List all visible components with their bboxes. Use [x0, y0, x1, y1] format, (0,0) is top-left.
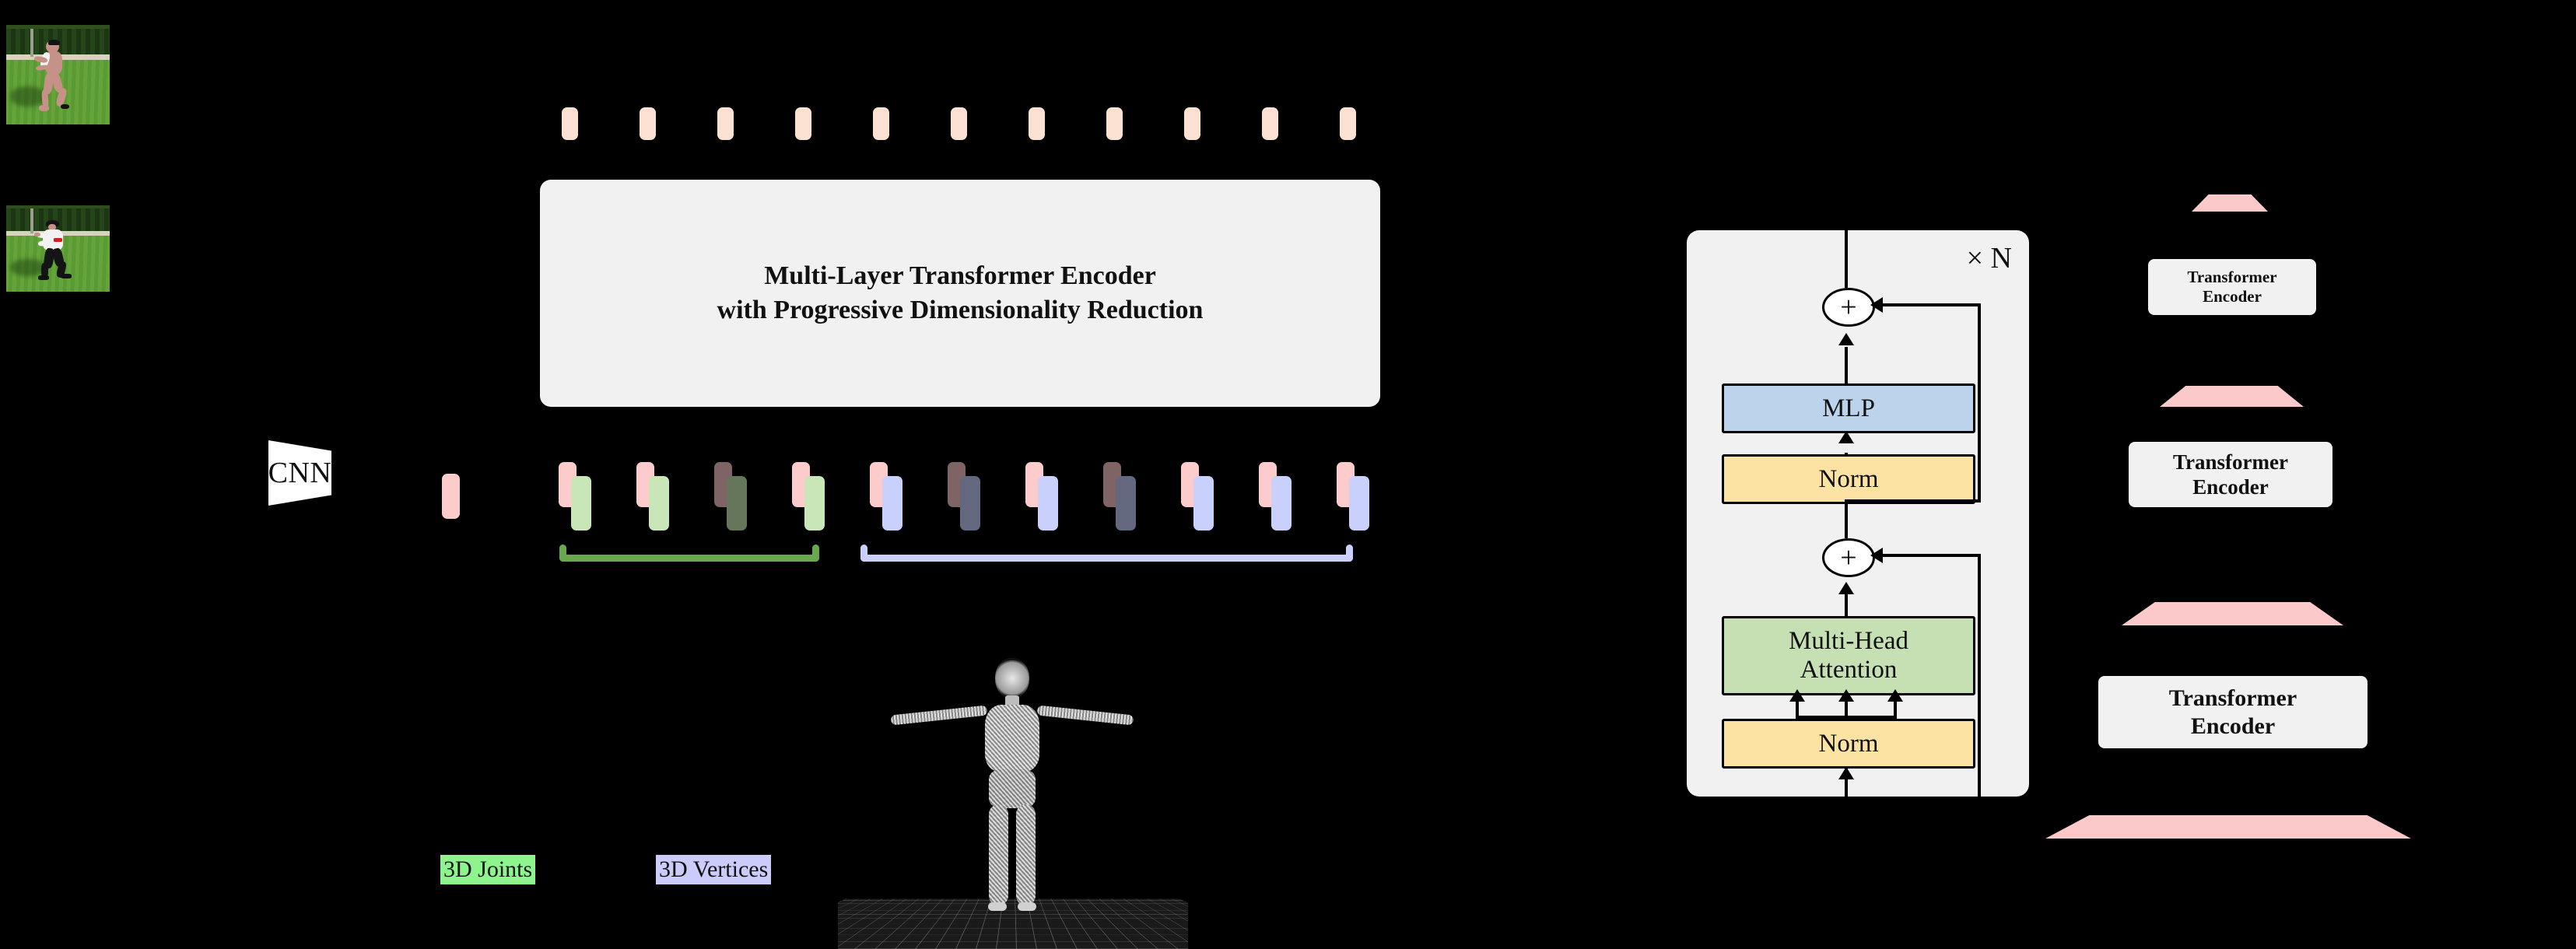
token-front-joint-masked [727, 476, 747, 531]
residual-add-top: + [1822, 288, 1875, 327]
residual-branch-top-horizontal-top [1880, 303, 1981, 306]
residual-branch-mid-horizontal-bottom [1845, 806, 1981, 809]
mlp-label: MLP [1822, 394, 1875, 423]
token-front-vertex [882, 476, 902, 531]
spine-line [1845, 205, 1848, 288]
encoder-panel-line1: Multi-Layer Transformer Encoder [764, 259, 1156, 293]
top-token [1262, 107, 1278, 140]
top-token [717, 107, 734, 140]
norm-box-bottom[interactable]: Norm [1722, 719, 1975, 769]
attention-label-line2: Attention [1800, 656, 1898, 685]
arrow-into-add-top [1838, 333, 1854, 345]
top-token [951, 107, 967, 140]
pyramid-trapezoid-3 [2122, 602, 2343, 625]
top-token [873, 107, 889, 140]
token-front-vertex-masked [960, 476, 980, 531]
mlp-box[interactable]: MLP [1722, 383, 1975, 433]
photo2-subject [33, 219, 83, 282]
add-symbol-top: + [1840, 290, 1856, 324]
pyramid-encoder-3-line2: Encoder [2191, 713, 2275, 741]
norm-box-top[interactable]: Norm [1722, 454, 1975, 504]
arrow-into-add-middle [1838, 582, 1854, 594]
joints-bracket-right-tick [812, 545, 819, 562]
bottom-token-row [545, 462, 1393, 540]
spine-line [1845, 499, 1848, 538]
top-token-row [562, 107, 1379, 140]
token-front-vertex [1271, 476, 1292, 531]
arrow-into-mlp [1838, 431, 1854, 443]
transformer-block-diagram[interactable]: × N + MLP Norm + Multi-Head Attention No… [1687, 230, 2029, 797]
pyramid-encoder-box-1[interactable]: Transformer Encoder [2148, 259, 2316, 315]
top-token [640, 107, 656, 140]
pyramid-trapezoid-1 [2192, 194, 2268, 212]
pyramid-encoder-box-3[interactable]: Transformer Encoder [2098, 676, 2367, 748]
token-front-joint [649, 476, 669, 531]
token-front-joint [571, 476, 591, 531]
cnn-output-token [442, 474, 460, 519]
cnn-block[interactable]: CNN [268, 440, 331, 506]
arrow-v [1887, 689, 1903, 702]
vertices-bracket-left-tick [860, 545, 867, 562]
output-3d-mesh-render [838, 638, 1188, 949]
legend-3d-vertices: 3D Vertices [656, 855, 771, 884]
qkv-left-riser [1796, 702, 1799, 719]
pyramid-encoder-box-2[interactable]: Transformer Encoder [2129, 442, 2332, 507]
token-front-vertex [1349, 476, 1369, 531]
residual-branch-top-vertical [1978, 305, 1981, 503]
pyramid-encoder-3-line1: Transformer [2169, 685, 2297, 713]
attention-label-line1: Multi-Head [1789, 627, 1908, 656]
top-token [795, 107, 811, 140]
residual-branch-mid-vertical [1978, 555, 1981, 809]
token-front-joint [804, 476, 825, 531]
pyramid-encoder-1-line1: Transformer [2187, 268, 2276, 287]
vertices-bracket-right-tick [1346, 545, 1353, 562]
token-front-vertex [1038, 476, 1058, 531]
norm-top-label: Norm [1819, 465, 1879, 494]
pyramid-trapezoid-2 [2160, 386, 2304, 407]
token-front-vertex [1193, 476, 1214, 531]
residual-branch-top-horizontal-bottom [1845, 499, 1981, 503]
joints-bracket-bar [559, 555, 819, 562]
input-photo-mesh-overlay [6, 25, 110, 124]
repeat-n-label: × N [1967, 241, 2012, 275]
top-token [1340, 107, 1356, 140]
norm-bottom-label: Norm [1819, 730, 1879, 758]
arrow-into-add-top-from-residual [1870, 297, 1883, 313]
arrow-into-norm-bottom [1838, 767, 1854, 779]
legend-3d-vertices-label: 3D Vertices [659, 856, 768, 882]
residual-branch-mid-horizontal-top [1880, 554, 1981, 557]
top-token [1029, 107, 1045, 140]
qkv-right-riser [1894, 702, 1897, 719]
pyramid-encoder-2-line1: Transformer [2173, 450, 2288, 474]
legend-3d-joints-label: 3D Joints [443, 856, 532, 882]
vertices-bracket [860, 545, 1353, 562]
residual-add-middle: + [1822, 538, 1875, 577]
input-photo-original [6, 205, 110, 292]
top-token [1184, 107, 1200, 140]
top-token [562, 107, 578, 140]
encoder-panel-line2: with Progressive Dimensionality Reductio… [717, 293, 1204, 327]
token-front-vertex-masked [1116, 476, 1136, 531]
top-token [1106, 107, 1123, 140]
multi-head-attention-box[interactable]: Multi-Head Attention [1722, 616, 1975, 695]
vertices-bracket-bar [860, 555, 1353, 562]
legend-3d-joints: 3D Joints [440, 855, 535, 884]
mesh-human-point-cloud [1012, 657, 1014, 930]
add-symbol-middle: + [1840, 541, 1856, 575]
spine-line [1845, 347, 1848, 384]
cnn-label: CNN [268, 456, 332, 490]
arrow-q [1789, 689, 1805, 702]
multi-layer-transformer-encoder-panel[interactable]: Multi-Layer Transformer Encoder with Pro… [540, 180, 1380, 407]
arrow-k [1838, 689, 1854, 702]
joints-bracket-left-tick [559, 545, 566, 562]
joints-bracket [559, 545, 819, 562]
pyramid-encoder-2-line2: Encoder [2192, 474, 2269, 499]
pyramid-trapezoid-4 [2045, 815, 2411, 839]
photo-subject-mesh [33, 40, 83, 112]
arrow-into-add-middle-from-residual [1870, 548, 1883, 563]
pyramid-encoder-1-line2: Encoder [2203, 287, 2262, 306]
